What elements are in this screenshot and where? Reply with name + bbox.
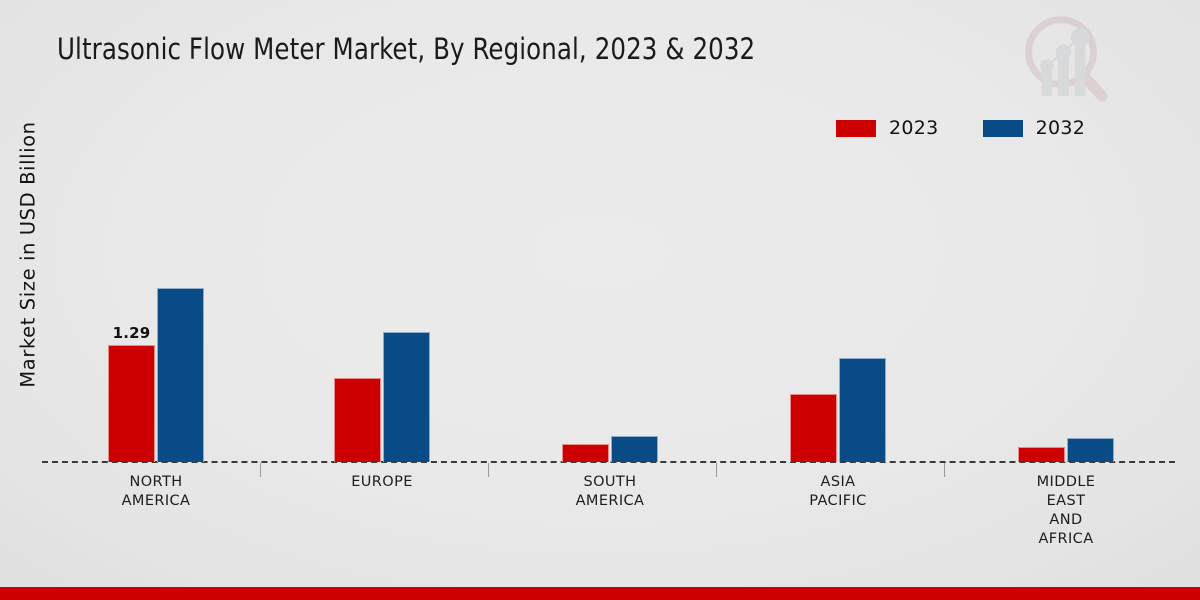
bar-value-label-2023-0: 1.29: [108, 324, 155, 342]
category-label-line: AFRICA: [1038, 531, 1093, 547]
bar-2032-1[interactable]: [383, 332, 430, 462]
axis-tick-3: [944, 463, 945, 477]
bar-2023-2[interactable]: [562, 444, 609, 462]
category-label-line: PACIFIC: [809, 493, 866, 509]
axis-tick-1: [488, 463, 489, 477]
category-label-line: AMERICA: [576, 493, 645, 509]
category-label-2: SOUTHAMERICA: [528, 473, 692, 511]
category-label-line: EAST: [1047, 493, 1086, 509]
category-label-line: ASIA: [821, 474, 856, 490]
bar-2032-0[interactable]: [157, 288, 204, 462]
bar-2032-3[interactable]: [839, 358, 886, 462]
category-label-line: MIDDLE: [1037, 474, 1096, 490]
bar-2023-4[interactable]: [1018, 447, 1065, 462]
bar-group-2: SOUTHAMERICA: [562, 0, 658, 600]
bar-group-1: EUROPE: [334, 0, 430, 600]
category-label-4: MIDDLEEASTANDAFRICA: [984, 473, 1148, 549]
bar-2032-4[interactable]: [1067, 438, 1114, 462]
bar-2032-2[interactable]: [611, 436, 658, 462]
category-label-line: AMERICA: [122, 493, 191, 509]
bar-2023-3[interactable]: [790, 394, 837, 462]
bar-group-4: MIDDLEEASTANDAFRICA: [1018, 0, 1114, 600]
category-label-line: NORTH: [129, 474, 182, 490]
chart-page: Ultrasonic Flow Meter Market, By Regiona…: [0, 0, 1200, 600]
category-label-1: EUROPE: [300, 473, 464, 492]
category-label-3: ASIAPACIFIC: [756, 473, 920, 511]
category-label-0: NORTHAMERICA: [74, 473, 238, 511]
bar-2023-1[interactable]: [334, 378, 381, 462]
axis-tick-2: [716, 463, 717, 477]
bars-container: 1.29: [108, 0, 204, 462]
axis-tick-0: [260, 463, 261, 477]
bars-container: [790, 0, 886, 462]
bars-container: [1018, 0, 1114, 462]
category-label-line: AND: [1049, 512, 1082, 528]
bar-2023-0[interactable]: [108, 345, 155, 462]
footer-accent-bar: [0, 587, 1200, 600]
bars-container: [562, 0, 658, 462]
bar-group-3: ASIAPACIFIC: [790, 0, 886, 600]
category-label-line: EUROPE: [351, 474, 413, 490]
bars-container: [334, 0, 430, 462]
bar-group-0: 1.29NORTHAMERICA: [108, 0, 204, 600]
plot-area: 1.29NORTHAMERICAEUROPESOUTHAMERICAASIAPA…: [0, 0, 1200, 600]
category-label-line: SOUTH: [584, 474, 637, 490]
